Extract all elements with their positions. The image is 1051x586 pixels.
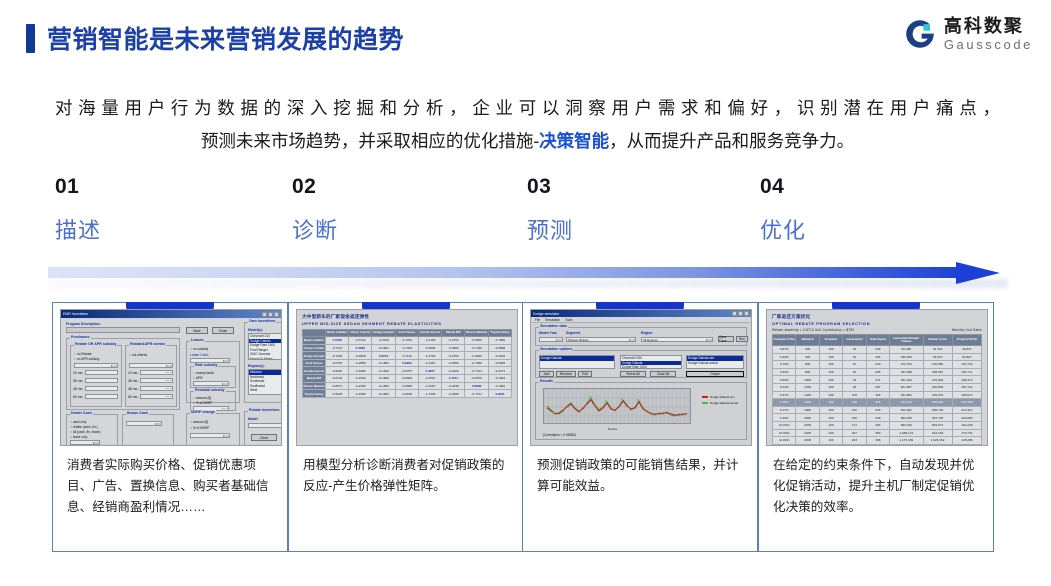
thumb1-group-rebate-apr-combo: Rebate&APR combo not offered 24 mo. 36 m…: [125, 345, 177, 407]
thumb4-col-header: Incremental Dealer Volume: [890, 335, 923, 346]
thumb1-label-combo-48mo: 48 mo.: [128, 387, 138, 391]
thumb1-program-description-input[interactable]: [66, 327, 180, 333]
arrow-head-icon: [956, 262, 1000, 284]
step-label: 诊断: [292, 213, 338, 245]
progress-arrow: [48, 262, 1008, 284]
thumb4-cell: 212,427: [952, 406, 981, 414]
thumb2-cell: -0.1991: [372, 344, 395, 352]
thumb1-combo-24mo-rate[interactable]: [140, 370, 173, 375]
table-row: Toyota Camry -0.5645 -0.1988 -0.1660 -0.…: [303, 390, 512, 398]
thumb1-radio-no-subsidy[interactable]: no subsidy: [190, 347, 208, 351]
thumb1-combo-msrp-value[interactable]: [190, 433, 230, 438]
step-list: 01 描述 02 诊断 03 预测 04 优化: [0, 175, 1051, 255]
title-row: 营销智能是未来营销发展的趋势: [26, 20, 404, 56]
arrow-shadow: [48, 279, 1008, 288]
thumb1-combo-bonus-cash[interactable]: [126, 421, 162, 426]
thumb4-cell: 48,837: [952, 346, 981, 354]
thumb3-graph-button[interactable]: Graph: [686, 371, 744, 377]
thumb2-cell: -0.6787: [325, 359, 348, 367]
thumb4-title-cn: 厂家返还方案优化: [772, 314, 982, 320]
thumb2-cell: -0.2588: [349, 359, 372, 367]
thumb4-cell: 2600: [796, 437, 819, 445]
step-number: 01: [55, 175, 101, 199]
thumb2-cell: -0.7314: [465, 367, 488, 375]
thumb1-combo-rate-value[interactable]: [193, 381, 229, 386]
thumb2-cell: -0.2230: [349, 375, 372, 383]
thumb4-cell: 171: [843, 421, 866, 429]
table-row: 3.62%80019062255361,058206,087152,771: [773, 368, 982, 376]
thumb1-window-title: EMR incentives: [63, 312, 88, 316]
thumb4-cell: 109: [843, 391, 866, 399]
thumb1-label-combo-60mo: 60 mo.: [128, 395, 138, 399]
thumb2-row-header: Dodge Intrepid: [303, 352, 326, 360]
card-caption: 用模型分析诊断消费者对促销政策的反应-产生价格弹性矩阵。: [303, 455, 511, 497]
thumb4-cell: 1,161,017: [923, 444, 952, 446]
thumb4-cell: 208,072: [952, 391, 981, 399]
thumb3-edit-button[interactable]: Edit: [578, 371, 592, 377]
thumb3-menu-file[interactable]: File: [535, 318, 540, 322]
thumb3-label-segment: Segment: [566, 331, 580, 335]
thumb4-cell: 187: [843, 429, 866, 437]
intro-paragraph: 对海量用户行为数据的深入挖掘和分析，企业可以洞察用户需求和偏好，识别潜在用户痛点…: [55, 92, 1000, 158]
thumb1-radio-money-factor[interactable]: money factor: [193, 371, 214, 375]
thumb1-combo-dealer-cash[interactable]: [70, 440, 100, 445]
paragraph-line-1: 对海量用户行为数据的深入挖掘和分析，企业可以洞察用户需求和偏好，识别潜在用户痛点…: [55, 92, 1000, 125]
card-thumbnail-form-dialog: EMR incentives Program Description: Purc…: [60, 309, 282, 446]
thumb2-cell: -2.0808: [488, 344, 511, 352]
thumb4-cell: 1,028,152: [923, 437, 952, 445]
thumb1-radio-apr[interactable]: APR: [193, 376, 203, 380]
thumb4-cell: 600: [796, 361, 819, 369]
thumb4-cell: 451,323: [890, 376, 923, 384]
brand-logo: 高科数聚 Gausscode: [903, 17, 1033, 51]
thumb2-cell: -0.7706: [465, 344, 488, 352]
thumb1-radio-msrp-pct[interactable]: % of MSRP: [190, 426, 209, 430]
card-04[interactable]: 厂家返还方案优化 OPTIMAL REBATE PROGRAM SELECTIO…: [758, 302, 994, 552]
card-02[interactable]: 大中型轿车的厂家现金返还弹性 UPPER MID-SIZE SEDAN SEGM…: [288, 302, 524, 552]
thumb2-cell: -0.1988: [349, 390, 372, 398]
paragraph-line2-before: 预测未来市场趋势，并采取相应的优化措施-: [201, 131, 539, 151]
thumb4-cell: 190: [819, 391, 842, 399]
thumb2-cell: -0.1860: [372, 359, 395, 367]
thumb3-legend-entry: Dodge Dakota actual: [702, 401, 738, 405]
thumb2-cell: 0.8712: [372, 352, 395, 360]
thumb2-cell: -0.1890: [372, 375, 395, 383]
thumb1-region-listbox[interactable]: Midwest Northeast Southeast Southwest We…: [248, 369, 282, 395]
thumb1-label-regions: Region(s):: [248, 364, 265, 368]
thumb1-radio-not-offered[interactable]: not offered: [129, 353, 147, 357]
card-thumbnail-simulator: Dodge simulator File Simulation Tools Si…: [530, 309, 752, 446]
thumb4-cell: 190: [819, 444, 842, 446]
thumb4-col-header: Customer Price: [773, 335, 796, 346]
thumb2-title-en: UPPER MID-SIZE SEDAN SEGMENT REBATE ELAS…: [302, 321, 512, 326]
thumb2-cell: -0.7204: [325, 352, 348, 360]
thumb3-combo-region[interactable]: All Regions: [641, 337, 713, 342]
thumb4-cell: 212,108: [952, 399, 981, 407]
thumb2-col-header: Nissan Maxima: [465, 329, 488, 337]
thumb4-cell: 1,263,703: [890, 444, 923, 446]
thumb2-cell: 4.3257: [418, 367, 441, 375]
thumb4-cell: 62: [843, 368, 866, 376]
title-accent-bar: [26, 24, 35, 53]
thumb4-cell: 667,708: [923, 414, 952, 422]
step-label: 优化: [760, 213, 806, 245]
thumb2-cell: -0.5497: [325, 367, 348, 375]
thumb4-cell: 5.44%: [773, 383, 796, 391]
thumb2-cell: -0.8490: [465, 352, 488, 360]
thumb4-cell: 4.53%: [773, 376, 796, 384]
thumb1-radio-residual-pct[interactable]: % of MSRP: [193, 401, 212, 405]
thumb1-group-rate-subsidy: Rate subsidy money factor APR: [190, 366, 236, 388]
thumb2-cell: -0.5767: [395, 367, 418, 375]
thumb4-cell: 190: [819, 353, 842, 361]
thumb2-cell: -0.6571: [325, 382, 348, 390]
thumb3-add-button[interactable]: Add: [539, 371, 554, 377]
thumb4-cell: 200: [796, 346, 819, 354]
thumb4-cell: 340,846: [923, 383, 952, 391]
thumb4-cell: 10.02%: [773, 421, 796, 429]
thumb1-restore-button[interactable]: Restore current environment: [281, 434, 282, 441]
thumb1-close-button[interactable]: Close: [212, 327, 234, 334]
thumb2-cell: -0.2669: [442, 359, 465, 367]
thumb4-cell: 402,070: [923, 391, 952, 399]
thumb1-radio-lease-only[interactable]: lease only: [70, 435, 87, 439]
thumb2-cell: -0.1986: [349, 367, 372, 375]
thumb4-cell: 203: [843, 437, 866, 445]
thumb2-cell: -2.3702: [418, 352, 441, 360]
thumb3-legend-label: Dodge Dakota sim: [710, 395, 735, 399]
thumb4-cell: 0.97%: [773, 346, 796, 354]
thumb4-cell: 992,910: [890, 421, 923, 429]
thumb2-cell: -0.2928: [349, 352, 372, 360]
table-row: 5.44%120019094287541,587340,846187,741: [773, 383, 982, 391]
thumb2-cell: -0.6189: [395, 390, 418, 398]
step-label: 预测: [527, 213, 573, 245]
thumb2-cell: -0.1642: [372, 367, 395, 375]
thumb1-combo-rebate-model[interactable]: [248, 423, 282, 428]
thumb4-cell: 2000: [796, 414, 819, 422]
thumb4-cell: 912,184: [923, 429, 952, 437]
thumb4-cell: 400: [796, 353, 819, 361]
thumb2-row-header: Toyota Camry: [303, 390, 326, 398]
thumb1-region-item[interactable]: West: [249, 388, 282, 393]
paragraph-line-2: 预测未来市场趋势，并采取相应的优化措施-决策智能，从而提升产品和服务竞争力。: [55, 125, 1000, 158]
thumb4-cell: 180,329: [890, 353, 923, 361]
thumb4-cell: 2400: [796, 429, 819, 437]
thumb4-cell: 270,754: [890, 361, 923, 369]
thumb1-model-item[interactable]: Mazda B-Series: [249, 357, 282, 360]
thumb2-row-header: Buick LeSabre: [303, 337, 326, 345]
thumb2-cell: -0.7393: [395, 344, 418, 352]
thumb2-cell: -0.7254: [395, 337, 418, 345]
table-row: Dodge Intrepid -0.7204 -0.2928 0.8712 -0…: [303, 352, 512, 360]
thumb4-cell: 190: [819, 346, 842, 354]
thumb4-cell: 152,771: [952, 368, 981, 376]
thumb1-label-lease-cash: Lease Cash:: [190, 353, 209, 357]
thumb2-col-header: Dodge Intrepid: [372, 329, 395, 337]
thumb4-cell: 94: [843, 383, 866, 391]
thumb2-corner-cell: [303, 329, 326, 337]
thumb4-cell: 1,173,439: [890, 437, 923, 445]
thumb1-radio-no-rebate[interactable]: no Rebate: [74, 352, 92, 356]
table-row: 2.73%60019047240270,754140,860124,703: [773, 361, 982, 369]
thumb2-cell: -2.2806: [418, 344, 441, 352]
thumb1-combo-rebate-value[interactable]: [74, 363, 118, 368]
thumb4-cell: 140,860: [923, 361, 952, 369]
thumb1-group-bonus-cash: Bonus Cash: [122, 414, 174, 446]
thumb4-cell: 209: [866, 346, 889, 354]
thumb4-cell: 349: [866, 414, 889, 422]
thumb2-cell: -0.2794: [442, 337, 465, 345]
step-number: 04: [760, 175, 806, 199]
thumb4-cell: 599,700: [923, 406, 952, 414]
thumb2-cell: -0.2794: [442, 352, 465, 360]
card-thumbnail-optimal-rebate: 厂家返还方案优化 OPTIMAL REBATE PROGRAM SELECTIO…: [766, 309, 988, 446]
table-row: Nissan Maxima -0.6571 -0.2169 -0.1869 -0…: [303, 382, 512, 390]
thumb4-cell: 1.92%: [773, 353, 796, 361]
card-03[interactable]: Dodge simulator File Simulation Tools Si…: [522, 302, 758, 552]
thumb4-cell: 140: [843, 406, 866, 414]
thumb3-model-listbox[interactable]: Chevrolet S10 Dodge Dakota Dodge Ram 150…: [620, 355, 682, 369]
thumb2-cell: -0.8340: [465, 337, 488, 345]
thumb3-label-region: Region: [641, 331, 653, 335]
thumb3-window-title: Dodge simulator: [533, 312, 559, 316]
thumb2-cell: -0.1660: [372, 390, 395, 398]
thumb2-cell: -2.1497: [418, 359, 441, 367]
thumb3-result-listbox[interactable]: Dodge Dakota sim Dodge Dakota actual: [686, 355, 744, 369]
thumb3-chart-legend: Dodge Dakota sim Dodge Dakota actual: [702, 395, 738, 407]
thumb4-col-header: Incremental: [843, 335, 866, 346]
thumb4-cell: 16: [843, 346, 866, 354]
thumb4-cell: 270,949: [923, 376, 952, 384]
thumb1-group-rebate-apr: Rebate OR APR subsidy no Rebate no APR s…: [70, 345, 122, 407]
thumb2-cell: -0.7713: [325, 344, 348, 352]
thumb1-save-button[interactable]: Save: [186, 327, 208, 334]
thumb4-cell: 12.75%: [773, 444, 796, 446]
thumb4-cell: 90,248: [890, 346, 923, 354]
thumb4-cell: 8.17%: [773, 406, 796, 414]
thumb2-cell: -0.2018: [372, 337, 395, 345]
thumb2-cell: -0.6064: [395, 375, 418, 383]
thumb1-radio-rebate-incl[interactable]: rebate (cash, fin.): [70, 425, 98, 429]
thumb4-cell: 1,083,174: [890, 429, 923, 437]
thumb2-cell: -2.1982: [488, 382, 511, 390]
thumb4-note-right: Monthly Unit Sales: [952, 328, 982, 332]
thumb4-col-header: Incentive: [819, 335, 842, 346]
thumb2-cell: -0.2638: [442, 382, 465, 390]
thumb2-cell: -2.3207: [418, 382, 441, 390]
thumb3-legend-entry: Dodge Dakota sim: [702, 395, 738, 399]
thumb4-col-header: Total Impact: [866, 335, 889, 346]
arrow-shaft: [48, 267, 966, 278]
thumb2-cell: -0.2169: [349, 382, 372, 390]
thumb3-group-simulation-data: Simulation data Model Year Segment Regio…: [535, 327, 747, 346]
thumb3-axis-label-months: Months: [608, 427, 617, 431]
thumb3-options-listbox[interactable]: Dodge Dakota: [539, 355, 615, 369]
thumb4-note-left: Rebate elasticity = 0.8712 Unit Contribu…: [772, 328, 854, 332]
paragraph-highlight: 决策智能: [539, 131, 609, 151]
thumb1-radio-residual-amount[interactable]: amount ($): [193, 396, 211, 400]
thumb2-elasticity-table: Buick LeSabre Chevy Lumina Dodge Intrepi…: [302, 329, 512, 398]
card-01[interactable]: EMR incentives Program Description: Purc…: [52, 302, 288, 552]
thumb4-cell: 302: [866, 391, 889, 399]
thumb1-legend-rate-subsidy: Rate subsidy: [194, 363, 218, 367]
thumb4-cell: 112,386: [952, 444, 981, 446]
thumb3-legend-simulation-data: Simulation data: [539, 324, 568, 328]
thumb2-col-header: Honda Accord: [418, 329, 441, 337]
table-row: 1.92%40019031224180,32981,67292,807: [773, 353, 982, 361]
thumb4-cell: 240: [866, 361, 889, 369]
table-row: 9.11%2000190156349902,645667,708204,883: [773, 414, 982, 422]
thumb1-legend-rebate-apr: Rebate OR APR subsidy: [74, 342, 117, 346]
table-header-row: Buick LeSabre Chevy Lumina Dodge Intrepi…: [303, 329, 512, 337]
thumb1-radio-msrp-amount[interactable]: amount ($): [190, 420, 208, 424]
thumb1-group-purchases: Purchases: Rebate OR APR subsidy no Reba…: [66, 338, 180, 410]
thumb4-cell: 190: [819, 361, 842, 369]
thumb2-cell: -0.7110: [395, 352, 418, 360]
card-caption: 消费者实际购买价格、促销优惠项目、广告、置换信息、购买者基础信息、经销商盈利情况…: [67, 455, 275, 518]
thumb1-label-combo-36mo: 36 mo.: [128, 379, 138, 383]
thumb2-cell: -2.2507: [418, 375, 441, 383]
thumb3-option-item-selected[interactable]: Dodge Dakota: [540, 356, 614, 361]
thumb1-group-own-incentives: Own incentives Model(s): Chevrolet 210 D…: [244, 322, 282, 403]
thumb2-cell: -1.7436: [418, 390, 441, 398]
thumb4-cell: 2800: [796, 444, 819, 446]
thumb4-cell: 190: [819, 414, 842, 422]
thumb2-cell: -0.5645: [325, 390, 348, 398]
thumb2-col-header: Mazda 626: [442, 329, 465, 337]
thumb4-cell: 800: [796, 368, 819, 376]
step-item-01: 01 描述: [55, 175, 101, 245]
step-item-04: 04 优化: [760, 175, 806, 245]
thumb4-cell: 333: [866, 406, 889, 414]
thumb4-cell: 190: [819, 383, 842, 391]
thumb4-cell: 255: [866, 368, 889, 376]
thumb2-cell: -2.2192: [418, 337, 441, 345]
thumb2-title-cn: 大中型轿车的厂家现金返还弹性: [302, 314, 512, 320]
thumb1-combo-48mo-rate[interactable]: [140, 386, 173, 391]
paragraph-line2-after: ，从而提升产品和服务竞争力。: [609, 131, 854, 151]
thumb2-row-header: Honda Accord: [303, 367, 326, 375]
card-thumbnail-elasticity-matrix: 大中型轿车的厂家现金返还弹性 UPPER MID-SIZE SEDAN SEGM…: [296, 309, 518, 446]
thumb1-radio-cash-only[interactable]: cash only: [70, 420, 86, 424]
step-item-02: 02 诊断: [292, 175, 338, 245]
thumb4-cell: 145,286: [952, 437, 981, 445]
thumb2-row-header: Chevy Lumina: [303, 344, 326, 352]
card-caption: 预测促销政策的可能销售结果，并计算可能效益。: [537, 455, 745, 497]
thumb4-cell: 156: [843, 414, 866, 422]
thumb1-combo-combo-value[interactable]: [129, 363, 173, 368]
thumb4-cell: 218: [843, 444, 866, 446]
thumb3-menu-tools[interactable]: Tools: [565, 318, 572, 322]
thumb1-legend-own-incentives: Own incentives: [248, 319, 276, 323]
thumb3-run-button[interactable]: Run: [736, 336, 748, 342]
thumb4-cell: 190: [819, 399, 842, 407]
thumb3-save-case-button[interactable]: Save Case: [718, 336, 734, 342]
thumb1-clear-button[interactable]: Clear: [251, 434, 277, 441]
thumb2-col-header: Toyota Camry: [488, 329, 511, 337]
thumb4-cell: 801,671: [923, 421, 952, 429]
thumb3-combo-model-year[interactable]: [539, 337, 563, 342]
table-row: 12.75%28001902184111,263,7031,161,017112…: [773, 444, 982, 446]
thumb2-cell: 1.1548: [325, 337, 348, 345]
thumb2-cell: -0.6744: [325, 375, 348, 383]
thumb3-combo-segment[interactable]: Pickups Midsize: [566, 337, 636, 342]
thumb3-legend-simulation-options: Simulation options: [539, 347, 573, 351]
thumb4-cell: 31: [843, 353, 866, 361]
thumb3-legend-label: Dodge Dakota actual: [710, 401, 738, 405]
thumb2-row-header: Ford Taurus: [303, 359, 326, 367]
thumb4-cell: 364: [866, 421, 889, 429]
thumb1-combo-60mo-rate[interactable]: [140, 394, 173, 399]
logo-text-en: Gausscode: [944, 38, 1033, 51]
table-row: 0.97%2001901620990,24841,71048,837: [773, 346, 982, 354]
thumb3-label-model-year: Model Year: [539, 331, 557, 335]
thumb3-model-item[interactable]: Dodge Ram 1500: [621, 365, 681, 369]
thumb1-label-36mo: 36 mo.: [73, 379, 83, 383]
thumb1-combo-36mo-rate[interactable]: [140, 378, 173, 383]
thumb4-cell: 1000: [796, 376, 819, 384]
step-number: 03: [527, 175, 573, 199]
thumb2-cell: -0.7530: [465, 359, 488, 367]
thumb3-select-all-button[interactable]: Select All: [620, 371, 646, 377]
thumb1-model-listbox[interactable]: Chevrolet 210 Dodge Cabrito Dodge Ram 15…: [248, 333, 282, 360]
thumb4-cell: 47: [843, 361, 866, 369]
table-row: 8.17%1800190140333812,381599,700212,427: [773, 406, 982, 414]
slide-root: 营销智能是未来营销发展的趋势 高科数聚 Gausscode 对海量用户行为数据的…: [0, 0, 1051, 586]
thumb3-menu-simulation[interactable]: Simulation: [545, 318, 560, 322]
thumb4-cell: 190: [819, 406, 842, 414]
thumb1-group-rebate-incentives: Rebate incentives Model Region Clear Res…: [244, 411, 282, 446]
thumb3-group-simulation-options: Simulation options Dodge Dakota Chevrole…: [535, 350, 747, 378]
thumb1-radio-all-incl[interactable]: all (cash, fin, lease): [70, 430, 100, 434]
thumb3-clear-all-button[interactable]: Clear All: [650, 371, 676, 377]
table-row: Honda Accord -0.5497 -0.1986 -0.1642 -0.…: [303, 367, 512, 375]
thumb4-col-header: Rebate $: [796, 335, 819, 346]
thumb4-cell: 191,028: [952, 421, 981, 429]
logo-text-cn: 高科数聚: [944, 17, 1033, 35]
thumb2-cell: -0.3742: [349, 337, 372, 345]
thumb1-input-60mo[interactable]: [85, 394, 118, 399]
thumb2-cell: -0.2293: [442, 367, 465, 375]
thumb4-cell: 206,087: [923, 368, 952, 376]
thumb4-cell: 631,852: [890, 391, 923, 399]
thumb1-label-24mo: 24 mo.: [73, 371, 83, 375]
table-row: 10.93%24001901873801,083,174912,184170,7…: [773, 429, 982, 437]
thumb4-cell: 78: [843, 376, 866, 384]
thumb1-input-36mo[interactable]: [85, 378, 118, 383]
thumb1-legend-purchases: Purchases:: [70, 335, 91, 339]
thumb4-cell: 180,374: [952, 376, 981, 384]
thumb3-remove-button[interactable]: Remove: [556, 371, 576, 377]
thumb4-cell: 190: [819, 368, 842, 376]
thumb2-cell: -0.6062: [395, 382, 418, 390]
thumb1-label-models: Model(s):: [248, 328, 263, 332]
thumb2-cell: -0.2802: [442, 344, 465, 352]
thumb4-cell: 541,587: [890, 383, 923, 391]
thumb3-chart-plot: [543, 388, 691, 424]
thumb2-cell: 4.2561: [488, 390, 511, 398]
thumb4-cell: 204,883: [952, 414, 981, 422]
gausscode-logo-icon: [903, 17, 937, 51]
thumb1-label-program-description: Program Description:: [66, 322, 101, 326]
thumb1-radio-no-apr[interactable]: no APR subsidy: [74, 357, 99, 361]
thumb4-cell: 190: [819, 429, 842, 437]
thumb1-input-48mo[interactable]: [85, 386, 118, 391]
thumb1-input-24mo[interactable]: [85, 370, 118, 375]
table-row: 6.37%1400190109302631,852402,070208,072: [773, 391, 982, 399]
thumb3-result-item[interactable]: Dodge Dakota actual: [687, 361, 743, 366]
